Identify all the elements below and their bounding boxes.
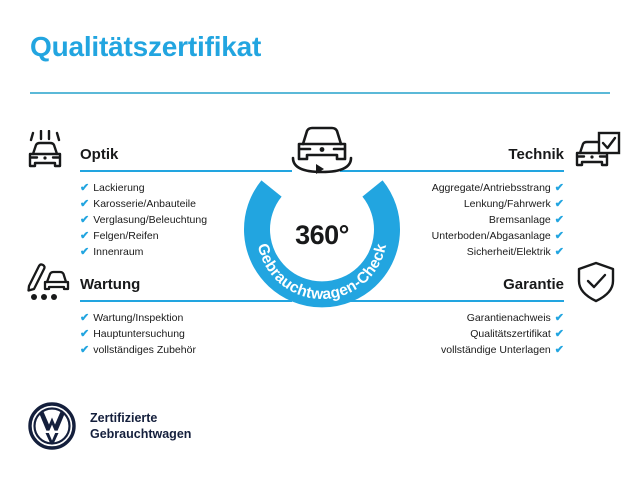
volkswagen-logo: [28, 402, 76, 450]
check-icon: ✔: [555, 182, 564, 194]
car-shine-icon: [22, 130, 74, 176]
checklist-wartung: ✔Wartung/Inspektion ✔Hauptuntersuchung ✔…: [80, 310, 252, 358]
list-item: ✔Wartung/Inspektion: [80, 310, 252, 326]
list-item-label: Felgen/Reifen: [93, 230, 158, 242]
check-icon: ✔: [555, 312, 564, 324]
list-item-label: Lenkung/Fahrwerk: [464, 198, 551, 210]
list-item: Aggregate/Antriebsstrang✔: [390, 180, 564, 196]
list-item-label: Innenraum: [93, 246, 143, 258]
list-item-label: Lackierung: [93, 182, 144, 194]
list-item: ✔Felgen/Reifen: [80, 228, 252, 244]
list-item: ✔Innenraum: [80, 244, 252, 260]
checklist-technik: Aggregate/Antriebsstrang✔ Lenkung/Fahrwe…: [390, 180, 564, 260]
service-book-pen-car-icon: [22, 260, 74, 306]
badge-value: 360°: [243, 220, 401, 251]
list-item: vollständige Unterlagen✔: [390, 342, 564, 358]
check-icon: ✔: [80, 198, 89, 210]
list-item: Bremsanlage✔: [390, 212, 564, 228]
check-icon: ✔: [555, 198, 564, 210]
list-item-label: Qualitätszertifikat: [470, 328, 551, 340]
section-heading-optik: Optik: [80, 130, 252, 162]
list-item: ✔Verglasung/Beleuchtung: [80, 212, 252, 228]
footer-brand: Zertifizierte Gebrauchtwagen: [28, 402, 191, 450]
list-item-label: vollständiges Zubehör: [93, 344, 196, 356]
section-optik: Optik ✔Lackierung ✔Karosserie/Anbauteile…: [22, 130, 252, 260]
section-garantie: Garantie Garantienachweis✔ Qualitätszert…: [390, 260, 622, 358]
list-item-label: Wartung/Inspektion: [93, 312, 183, 324]
shield-check-icon: [570, 260, 622, 306]
section-technik: Technik Aggregate/Antriebsstrang✔ Lenkun…: [390, 130, 622, 260]
list-item-label: Bremsanlage: [489, 214, 551, 226]
list-item: Lenkung/Fahrwerk✔: [390, 196, 564, 212]
list-item: ✔vollständiges Zubehör: [80, 342, 252, 358]
badge-360-gebrauchtwagen-check: Gebrauchtwagen-Check 360°: [243, 120, 401, 310]
section-heading-technik: Technik: [390, 130, 564, 162]
footer-line-2: Gebrauchtwagen: [90, 426, 191, 442]
list-item-label: Karosserie/Anbauteile: [93, 198, 196, 210]
car-checkbox-icon: [570, 130, 622, 176]
list-item-label: Sicherheit/Elektrik: [467, 246, 551, 258]
list-item: ✔Lackierung: [80, 180, 252, 196]
title-divider: [30, 92, 610, 94]
quality-certificate-page: Qualitätszertifikat Op: [0, 0, 640, 480]
page-title: Qualitätszertifikat: [30, 33, 261, 61]
list-item: Garantienachweis✔: [390, 310, 564, 326]
list-item: ✔Karosserie/Anbauteile: [80, 196, 252, 212]
section-wartung: Wartung ✔Wartung/Inspektion ✔Hauptunters…: [22, 260, 252, 358]
section-heading-wartung: Wartung: [80, 260, 252, 292]
check-icon: ✔: [80, 344, 89, 356]
footer-text: Zertifizierte Gebrauchtwagen: [90, 410, 191, 442]
check-icon: ✔: [555, 230, 564, 242]
list-item-label: Verglasung/Beleuchtung: [93, 214, 207, 226]
check-icon: ✔: [555, 246, 564, 258]
list-item: Qualitätszertifikat✔: [390, 326, 564, 342]
list-item-label: vollständige Unterlagen: [441, 344, 551, 356]
check-icon: ✔: [80, 230, 89, 242]
footer-line-1: Zertifizierte: [90, 410, 191, 426]
list-item: Unterboden/Abgasanlage✔: [390, 228, 564, 244]
checklist-optik: ✔Lackierung ✔Karosserie/Anbauteile ✔Verg…: [80, 180, 252, 260]
check-icon: ✔: [80, 312, 89, 324]
list-item-label: Aggregate/Antriebsstrang: [432, 182, 551, 194]
list-item-label: Hauptuntersuchung: [93, 328, 185, 340]
section-heading-garantie: Garantie: [390, 260, 564, 292]
car-rotate-360-icon: [283, 120, 361, 178]
checklist-garantie: Garantienachweis✔ Qualitätszertifikat✔ v…: [390, 310, 564, 358]
check-icon: ✔: [80, 182, 89, 194]
check-icon: ✔: [80, 214, 89, 226]
check-icon: ✔: [80, 246, 89, 258]
list-item: ✔Hauptuntersuchung: [80, 326, 252, 342]
check-icon: ✔: [80, 328, 89, 340]
check-icon: ✔: [555, 344, 564, 356]
check-icon: ✔: [555, 328, 564, 340]
list-item-label: Garantienachweis: [467, 312, 551, 324]
list-item-label: Unterboden/Abgasanlage: [432, 230, 551, 242]
check-icon: ✔: [555, 214, 564, 226]
list-item: Sicherheit/Elektrik✔: [390, 244, 564, 260]
